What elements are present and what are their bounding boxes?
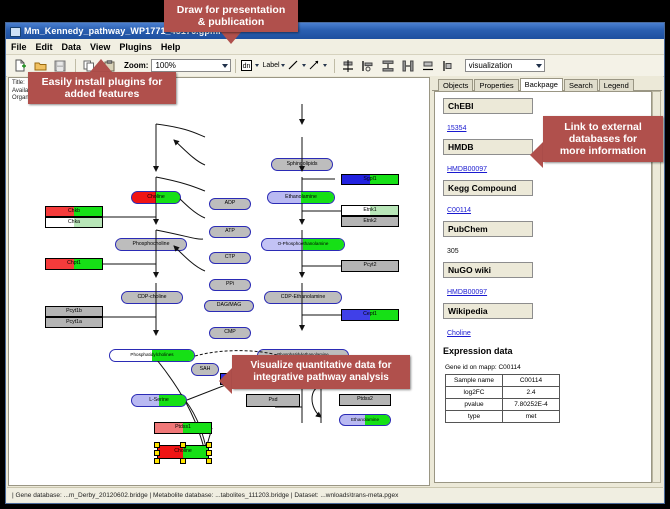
resize-handle-nw[interactable] [154, 442, 160, 448]
menu-item-data[interactable]: Data [62, 42, 82, 52]
db-header-kegg-compound: Kegg Compound [443, 180, 533, 196]
callout-plugins-text: Easily install plugins for added feature… [28, 72, 176, 104]
table-row: type met [446, 411, 560, 423]
node-label: Pcyt1a [66, 320, 82, 325]
db-header-chebi: ChEBI [443, 98, 533, 114]
node-label: Chkb [68, 209, 80, 214]
tab-objects[interactable]: Objects [438, 79, 473, 91]
expr-key-sample-name: Sample name [446, 375, 503, 387]
interaction-chevron-icon[interactable] [323, 64, 327, 67]
menu-item-file[interactable]: File [11, 42, 27, 52]
callout-visualize: Visualize quantitative data for integrat… [232, 355, 410, 389]
expression-data-header: Expression data [443, 346, 643, 356]
node-label: O-Phosphoethanolamine [278, 242, 329, 247]
db-link-kegg-compound[interactable]: C00114 [447, 207, 471, 214]
svg-text:dn: dn [243, 63, 251, 70]
node-label: SAH [200, 367, 211, 372]
table-row: pvalue 7.80252E-4 [446, 399, 560, 411]
node-label: Ptdss1 [175, 425, 191, 430]
zoom-combo[interactable]: 100% [151, 59, 231, 72]
toolbar-separator-3 [334, 59, 335, 73]
db-link-wikipedia[interactable]: Choline [447, 330, 471, 337]
toolbar-separator [75, 59, 76, 73]
node-label: Choline [174, 449, 192, 454]
node-label: Phosphatidylcholines [130, 353, 173, 358]
align-center-icon[interactable] [339, 57, 357, 74]
expr-val-type: met [503, 411, 560, 423]
menu-item-help[interactable]: Help [161, 42, 181, 52]
node-label: Psd [269, 398, 278, 403]
callout-draw-text: Draw for presentation & publication [164, 0, 298, 32]
datanode-icon[interactable]: dn [240, 57, 253, 74]
db-header-pubchem: PubChem [443, 221, 533, 237]
expr-key-type: type [446, 411, 503, 423]
pathway-canvas[interactable]: Title: Availability: Organism: [8, 77, 430, 486]
node-label: CTP [225, 255, 235, 260]
node-label: CMP [224, 330, 236, 335]
node-label: Cept1 [363, 312, 377, 317]
node-label: ADP [225, 201, 236, 206]
node-label: Ptdss2 [357, 397, 373, 402]
node-label: Ethanolamine [285, 195, 317, 200]
resize-handle-se[interactable] [206, 458, 212, 464]
tab-properties[interactable]: Properties [474, 79, 518, 91]
menu-item-edit[interactable]: Edit [36, 42, 53, 52]
expr-val-log2fc: 2.4 [503, 387, 560, 399]
resize-handle-s[interactable] [180, 458, 186, 464]
db-header-nugo-wiki: NuGO wiki [443, 262, 533, 278]
callout-draw-arrow-icon [220, 31, 242, 44]
tab-legend[interactable]: Legend [599, 79, 634, 91]
table-row: log2FC 2.4 [446, 387, 560, 399]
node-label: CDP-choline [137, 295, 166, 300]
resize-handle-e[interactable] [206, 450, 212, 456]
expr-val-sample-name: C00114 [503, 375, 560, 387]
db-link-hmdb[interactable]: HMDB00097 [447, 166, 487, 173]
callout-draw: Draw for presentation & publication [164, 0, 298, 32]
callout-links-text: Link to external databases for more info… [543, 116, 663, 162]
new-file-icon[interactable] [11, 57, 29, 74]
tab-search[interactable]: Search [564, 79, 598, 91]
distribute-vertical-icon[interactable] [379, 57, 397, 74]
callout-plugins: Easily install plugins for added feature… [28, 72, 176, 104]
callout-visualize-text: Visualize quantitative data for integrat… [232, 355, 410, 389]
db-header-hmdb: HMDB [443, 139, 533, 155]
node-label: Chka [68, 220, 80, 225]
resize-handle-n[interactable] [180, 442, 186, 448]
expr-key-pvalue: pvalue [446, 399, 503, 411]
callout-links-arrow-icon [530, 142, 543, 168]
table-row: Sample name C00114 [446, 375, 560, 387]
toolbar-separator-2 [235, 59, 236, 73]
db-value-pubchem: 305 [447, 248, 459, 255]
zoom-label: Zoom: [124, 61, 148, 70]
node-label: ATP [225, 229, 235, 234]
line-chevron-icon[interactable] [302, 64, 306, 67]
title-bar: Mm_Kennedy_pathway_WP1771_45176.gpml [6, 23, 664, 39]
node-label: Chpt1 [67, 261, 81, 266]
expr-key-log2fc: log2FC [446, 387, 503, 399]
status-bar-text: | Gene database: ...m_Derby_20120602.bri… [12, 492, 398, 499]
stack-icon[interactable] [419, 57, 437, 74]
visualization-chevron-icon [536, 64, 542, 68]
db-link-chebi[interactable]: 15354 [447, 125, 466, 132]
callout-plugins-arrow-icon [90, 59, 112, 72]
node-label: PPi [226, 282, 234, 287]
node-label: CDP-Ethanolamine [281, 295, 325, 300]
resize-handle-ne[interactable] [206, 442, 212, 448]
node-label: Pcyt2 [364, 263, 377, 268]
visualization-value: visualization [469, 61, 513, 70]
db-header-wikipedia: Wikipedia [443, 303, 533, 319]
resize-handle-sw[interactable] [154, 458, 160, 464]
tab-backpage[interactable]: Backpage [520, 78, 563, 91]
label-chevron-icon[interactable] [281, 64, 285, 67]
status-bar: | Gene database: ...m_Derby_20120602.bri… [7, 487, 663, 502]
node-label: Etnk2 [363, 219, 376, 224]
line-tool-icon[interactable] [288, 57, 300, 74]
interaction-tool-icon[interactable] [309, 57, 321, 74]
screenshot-root: Mm_Kennedy_pathway_WP1771_45176.gpml Fil… [0, 0, 670, 509]
menu-bar: File Edit Data View Plugins Help [6, 39, 664, 55]
menu-item-plugins[interactable]: Plugins [119, 42, 152, 52]
node-label: Ethanolamine [351, 418, 379, 423]
expr-val-pvalue: 7.80252E-4 [503, 399, 560, 411]
zoom-value: 100% [155, 61, 175, 70]
distribute-horizontal-icon[interactable] [399, 57, 417, 74]
node-label: L-Serine [149, 398, 169, 403]
app-icon [10, 26, 20, 36]
node-label: Choline [147, 195, 165, 200]
node-label: Etnk1 [363, 208, 376, 213]
node-label: Phosphocholine [133, 242, 170, 247]
node-label: Sgpl1 [363, 177, 376, 182]
visualization-combo[interactable]: visualization [465, 59, 545, 72]
menu-item-view[interactable]: View [90, 42, 110, 52]
expression-table: Sample name C00114 log2FC 2.4 pvalue 7.8… [445, 374, 560, 423]
node-label: DAG/MAG [217, 303, 242, 308]
db-link-nugo-wiki[interactable]: HMDB00097 [447, 289, 487, 296]
bring-front-icon[interactable] [439, 57, 457, 74]
chevron-down-icon [222, 64, 228, 68]
resize-handle-w[interactable] [154, 450, 160, 456]
callout-visualize-arrow-icon [219, 368, 232, 394]
datanode-chevron-icon[interactable] [255, 64, 259, 67]
node-label: Sphingolipids [287, 162, 318, 167]
node-label: Pcyt1b [66, 309, 82, 314]
gene-id-line: Gene id on mapp: C00114 [445, 364, 643, 371]
label-tool-label[interactable]: Label [262, 62, 279, 69]
panel-tab-row: Objects Properties Backpage Search Legen… [432, 77, 662, 91]
align-left-icon[interactable] [359, 57, 377, 74]
callout-links: Link to external databases for more info… [543, 116, 663, 162]
